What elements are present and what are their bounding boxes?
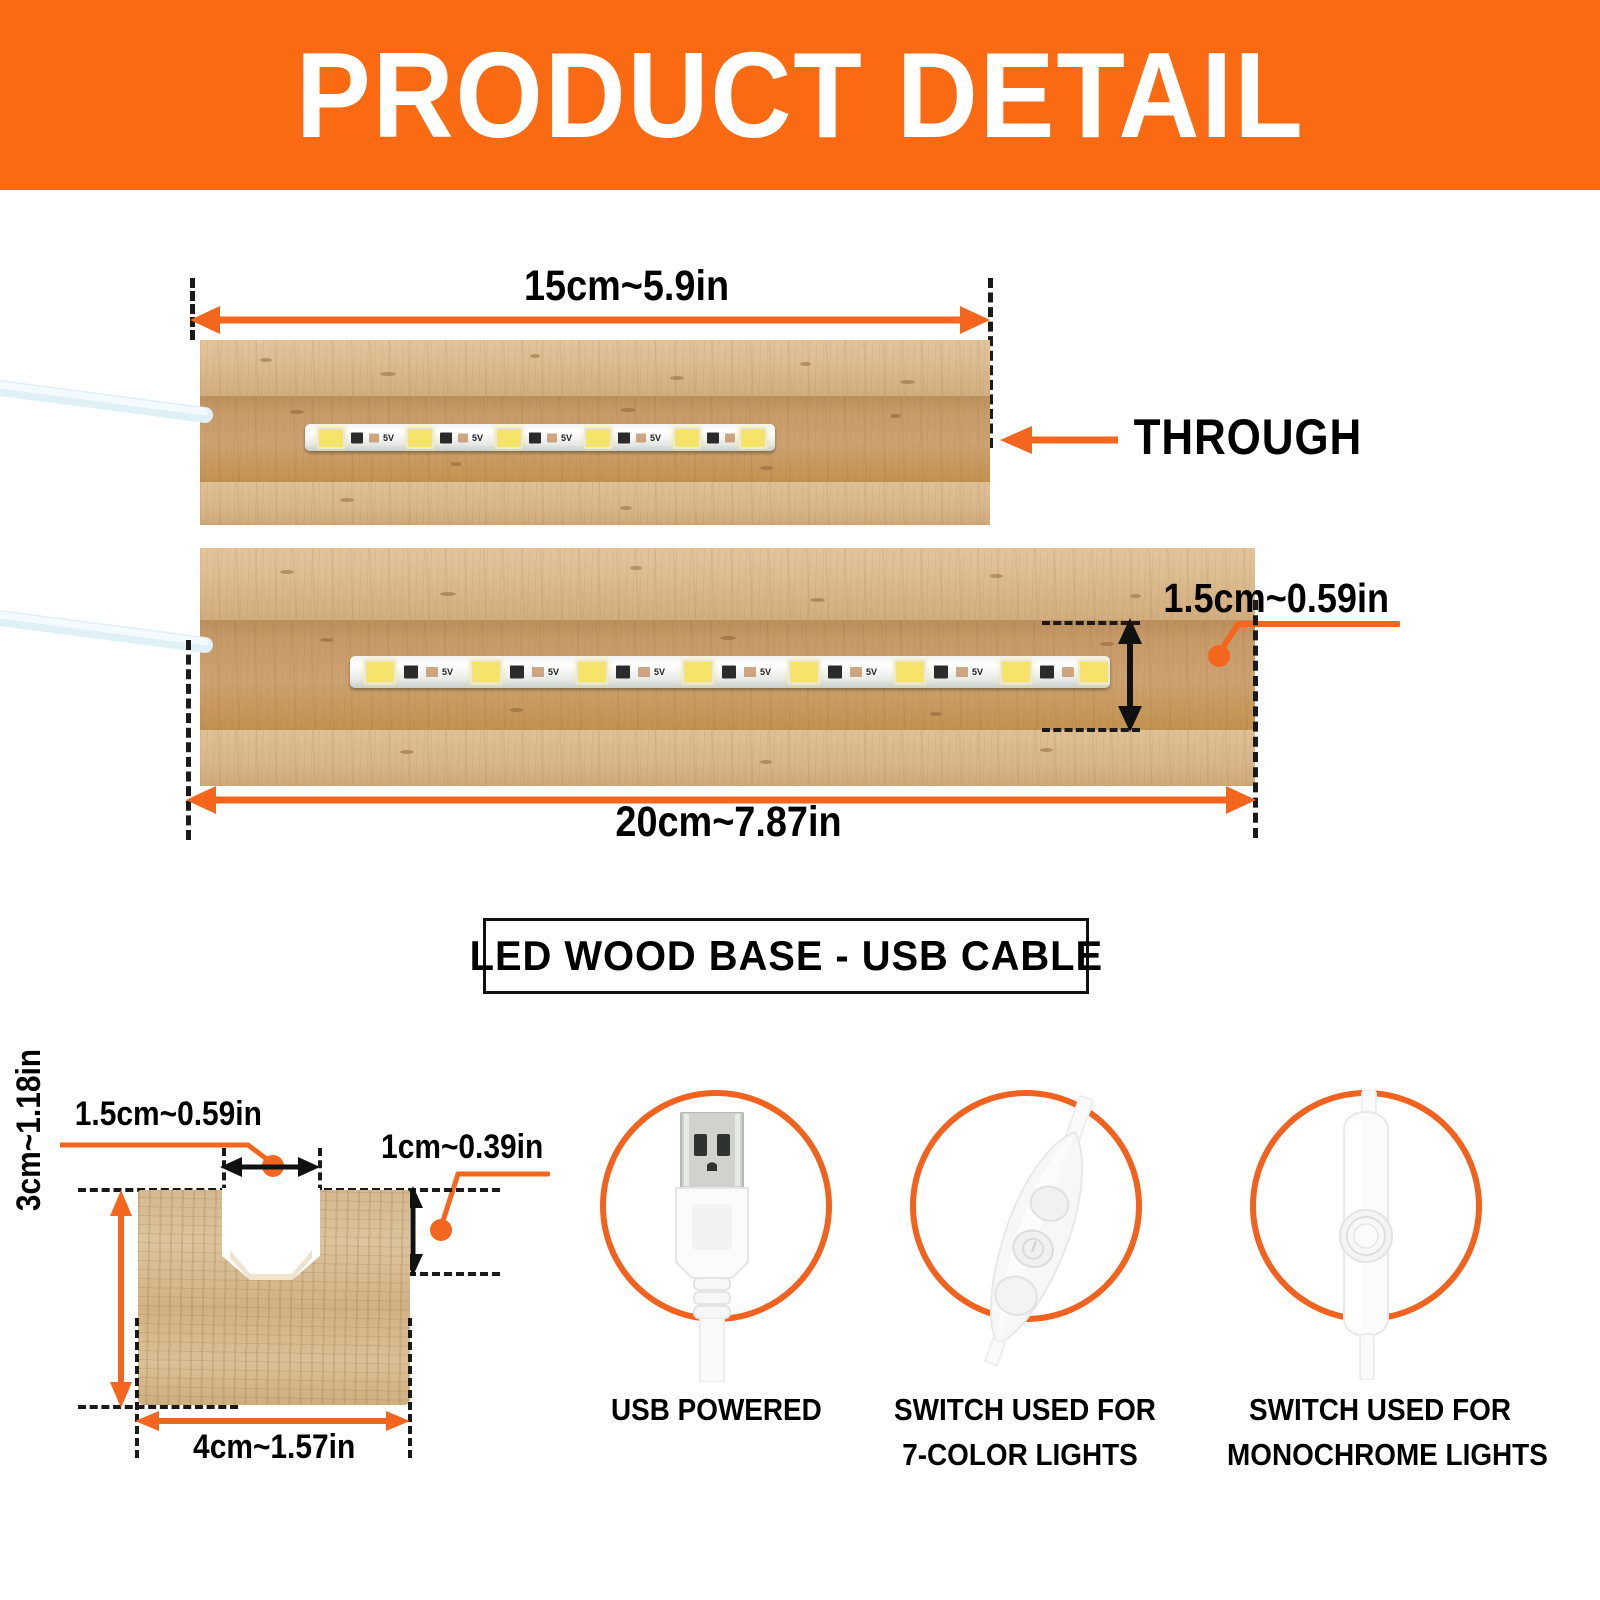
product-detail-page: PRODUCT DETAIL 15cm~5.9in	[0, 0, 1600, 1600]
color-switch-caption-line1: SWITCH USED FOR	[894, 1388, 1146, 1433]
xsec-groove-width-arrow	[220, 1154, 320, 1180]
xsec-width-left-dash	[135, 1318, 139, 1458]
usb-connector-icon	[658, 1112, 766, 1382]
xsec-groove-width-label: 1.5cm~0.59in	[75, 1095, 262, 1134]
xsec-notch-icon	[222, 1188, 320, 1284]
section-title-label: LED WOOD BASE - USB CABLE	[469, 932, 1102, 980]
base-bottom-face	[200, 730, 1255, 786]
led-wood-base-top: 5V 5V 5V 5V	[200, 340, 990, 525]
groove-depth-arrow	[1115, 618, 1145, 732]
page-title: PRODUCT DETAIL	[296, 34, 1305, 156]
usb-cable-bottom	[0, 600, 215, 660]
page-header-banner: PRODUCT DETAIL	[0, 0, 1600, 190]
xsec-width-label: 4cm~1.57in	[193, 1428, 355, 1467]
base-top-face	[200, 548, 1255, 620]
usb-cable-top	[0, 370, 215, 430]
through-label: THROUGH	[1134, 408, 1363, 466]
base-top-face	[200, 340, 990, 396]
top-dimension-arrow	[190, 303, 990, 337]
usb-feature-caption: USB POWERED	[611, 1388, 809, 1433]
wood-grain-texture	[200, 482, 990, 525]
mono-switch-caption-line2: MONOCHROME LIGHTS	[1227, 1433, 1533, 1478]
wood-grain-texture	[200, 548, 1255, 620]
wood-grain-texture	[200, 340, 990, 396]
usb-feature-caption-line1: USB POWERED	[611, 1388, 809, 1433]
led-strip: 5V 5V 5V 5V 5V 5V	[350, 656, 1110, 688]
wood-grain-texture	[200, 730, 1255, 786]
through-arrow	[1000, 425, 1120, 455]
xsec-height-arrow	[108, 1190, 134, 1408]
remote-switch-icon	[940, 1090, 1140, 1370]
xsec-width-right-dash	[408, 1318, 412, 1458]
color-switch-feature-caption: SWITCH USED FOR 7-COLOR LIGHTS	[894, 1388, 1146, 1478]
color-switch-caption-line2: 7-COLOR LIGHTS	[894, 1433, 1146, 1478]
mono-switch-feature-caption: SWITCH USED FOR MONOCHROME LIGHTS	[1227, 1388, 1533, 1478]
led-strip: 5V 5V 5V 5V	[305, 424, 775, 451]
xsec-groove-depth-dot	[430, 1219, 452, 1241]
led-wood-base-bottom: 5V 5V 5V 5V 5V 5V	[200, 548, 1255, 786]
bottom-dimension-label: 20cm~7.87in	[615, 798, 841, 847]
xsec-height-label: 3cm~1.18in	[10, 1042, 49, 1218]
mono-switch-caption-line1: SWITCH USED FOR	[1227, 1388, 1533, 1433]
groove-depth-dot	[1208, 645, 1230, 667]
section-title-box: LED WOOD BASE - USB CABLE	[483, 918, 1089, 994]
xsec-groove-depth-label: 1cm~0.39in	[381, 1128, 543, 1167]
base-bottom-face	[200, 482, 990, 525]
inline-switch-icon	[1300, 1090, 1440, 1380]
